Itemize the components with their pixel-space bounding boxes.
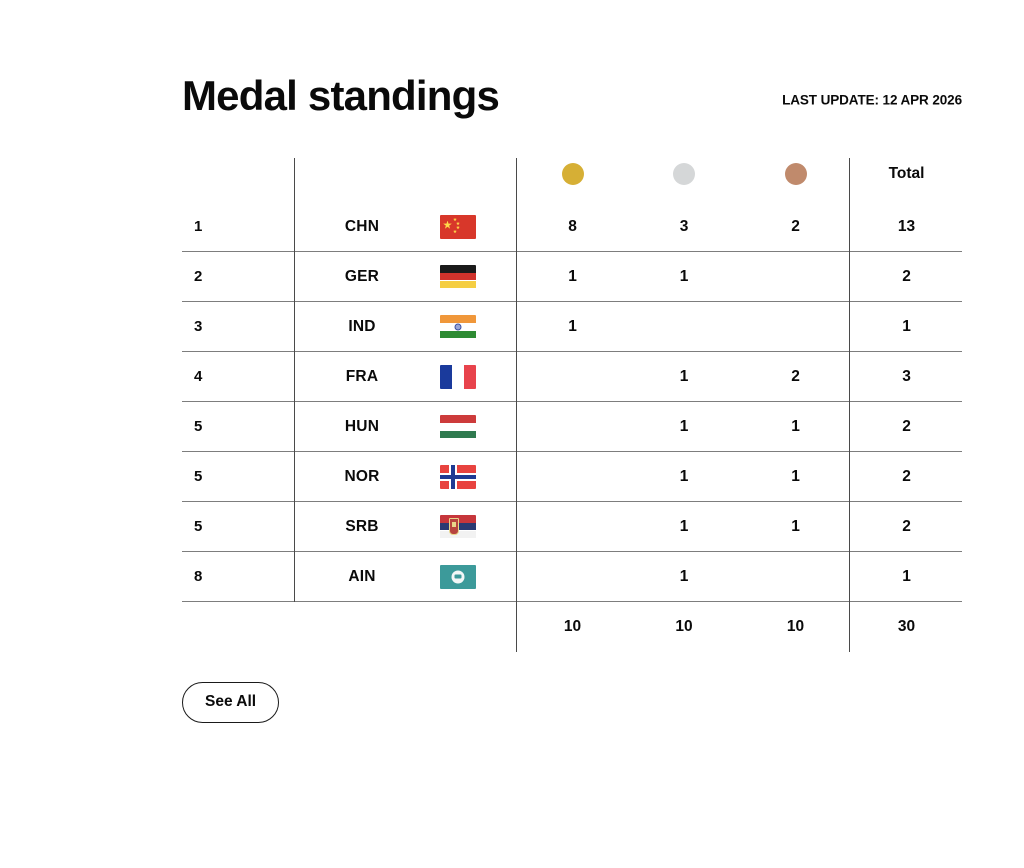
cell-total-count: 2: [851, 502, 962, 552]
totals-cell-country: [295, 602, 517, 652]
column-divider-total: [849, 158, 850, 652]
medal-standings-page: Medal standings LAST UPDATE: 12 APR 2026…: [182, 0, 962, 723]
page-header: Medal standings LAST UPDATE: 12 APR 2026: [182, 0, 962, 110]
cell-country: GER: [295, 252, 517, 302]
cell-gold-count: [517, 452, 628, 502]
footer: See All: [182, 682, 962, 723]
table-body: Total1CHN832132GER1123IND114FRA1235HUN11…: [182, 146, 962, 651]
table-totals-row: 10101030: [182, 602, 962, 652]
cell-rank: 5: [182, 402, 295, 452]
cell-country: AIN: [295, 552, 517, 602]
cell-country: NOR: [295, 452, 517, 502]
total-column-label: Total: [889, 165, 925, 182]
column-divider-rank: [294, 158, 295, 602]
country-code: SRB: [336, 518, 388, 536]
header-cell-rank: [182, 146, 295, 202]
cell-rank: 8: [182, 552, 295, 602]
cell-silver-count: [628, 302, 740, 352]
cell-bronze-count: [740, 302, 851, 352]
table-row[interactable]: 5SRB112: [182, 502, 962, 552]
table-row[interactable]: 3IND11: [182, 302, 962, 352]
bronze-medal-dot-icon: [785, 163, 807, 185]
cell-bronze-count: 1: [740, 502, 851, 552]
flag-norway: [440, 465, 476, 489]
header-cell-gold: [517, 146, 628, 202]
cell-gold-count: [517, 552, 628, 602]
table-row[interactable]: 2GER112: [182, 252, 962, 302]
cell-gold-count: 1: [517, 252, 628, 302]
page-title: Medal standings: [182, 72, 499, 120]
flag-germany: [440, 265, 476, 289]
table-row[interactable]: 8AIN11: [182, 552, 962, 602]
cell-country: CHN: [295, 202, 517, 252]
cell-gold-count: 1: [517, 302, 628, 352]
cell-bronze-count: 2: [740, 202, 851, 252]
flag-ain: [440, 565, 476, 589]
cell-rank: 1: [182, 202, 295, 252]
medal-standings-table: Total1CHN832132GER1123IND114FRA1235HUN11…: [182, 146, 962, 651]
cell-gold-count: [517, 502, 628, 552]
country-code: IND: [336, 318, 388, 336]
cell-bronze-count: 1: [740, 452, 851, 502]
totals-bronze: 10: [740, 602, 851, 652]
cell-bronze-count: 1: [740, 402, 851, 452]
cell-rank: 5: [182, 502, 295, 552]
cell-rank: 5: [182, 452, 295, 502]
table-row[interactable]: 5NOR112: [182, 452, 962, 502]
table-row[interactable]: 1CHN83213: [182, 202, 962, 252]
column-divider-country: [516, 158, 517, 652]
cell-rank: 4: [182, 352, 295, 402]
flag-china: [440, 215, 476, 239]
header-cell-bronze: [740, 146, 851, 202]
cell-country: HUN: [295, 402, 517, 452]
table-header-row: Total: [182, 146, 962, 202]
header-cell-total: Total: [851, 146, 962, 202]
cell-silver-count: 3: [628, 202, 740, 252]
cell-total-count: 13: [851, 202, 962, 252]
header-cell-country: [295, 146, 517, 202]
country-code: FRA: [336, 368, 388, 386]
cell-bronze-count: [740, 552, 851, 602]
cell-country: SRB: [295, 502, 517, 552]
flag-india: [440, 315, 476, 339]
last-update-label: LAST UPDATE: 12 APR 2026: [782, 93, 962, 108]
cell-bronze-count: [740, 252, 851, 302]
cell-silver-count: 1: [628, 352, 740, 402]
totals-gold: 10: [517, 602, 628, 652]
cell-gold-count: [517, 352, 628, 402]
cell-silver-count: 1: [628, 252, 740, 302]
cell-silver-count: 1: [628, 402, 740, 452]
cell-rank: 2: [182, 252, 295, 302]
cell-silver-count: 1: [628, 552, 740, 602]
cell-rank: 3: [182, 302, 295, 352]
totals-total: 30: [851, 602, 962, 652]
cell-total-count: 2: [851, 252, 962, 302]
country-code: AIN: [336, 568, 388, 586]
totals-silver: 10: [628, 602, 740, 652]
cell-total-count: 2: [851, 402, 962, 452]
cell-silver-count: 1: [628, 502, 740, 552]
cell-total-count: 3: [851, 352, 962, 402]
country-code: GER: [336, 268, 388, 286]
gold-medal-dot-icon: [562, 163, 584, 185]
flag-france: [440, 365, 476, 389]
cell-country: FRA: [295, 352, 517, 402]
flag-hungary: [440, 415, 476, 439]
cell-gold-count: [517, 402, 628, 452]
country-code: CHN: [336, 218, 388, 236]
cell-total-count: 2: [851, 452, 962, 502]
see-all-button[interactable]: See All: [182, 682, 279, 723]
table-row[interactable]: 4FRA123: [182, 352, 962, 402]
totals-cell-rank: [182, 602, 295, 652]
cell-bronze-count: 2: [740, 352, 851, 402]
silver-medal-dot-icon: [673, 163, 695, 185]
flag-serbia: [440, 515, 476, 539]
header-cell-silver: [628, 146, 740, 202]
cell-total-count: 1: [851, 302, 962, 352]
table-row[interactable]: 5HUN112: [182, 402, 962, 452]
cell-country: IND: [295, 302, 517, 352]
cell-gold-count: 8: [517, 202, 628, 252]
country-code: NOR: [336, 468, 388, 486]
cell-silver-count: 1: [628, 452, 740, 502]
country-code: HUN: [336, 418, 388, 436]
cell-total-count: 1: [851, 552, 962, 602]
